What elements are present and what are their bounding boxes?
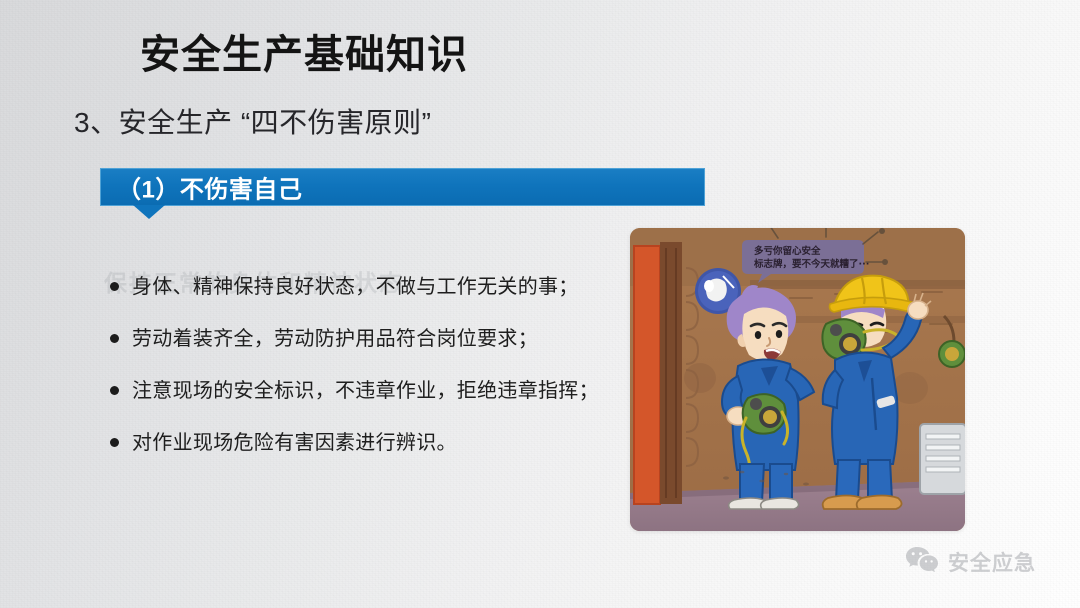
page-title: 安全生产基础知识 bbox=[140, 22, 468, 80]
filled-circle-bullet-icon bbox=[110, 282, 119, 291]
svg-text:标志牌，要不今天就糟了···: 标志牌，要不今天就糟了··· bbox=[753, 258, 869, 270]
list-item-label: 身体、精神保持良好状态，不做与工作无关的事； bbox=[132, 272, 579, 302]
bullet-list: 身体、精神保持良好状态，不做与工作无关的事； 劳动着装齐全，劳动防护用品符合岗位… bbox=[110, 272, 630, 480]
triangle-down-icon bbox=[133, 205, 165, 219]
list-item-label: 对作业现场危险有害因素进行辨识。 bbox=[132, 428, 457, 458]
list-item: 身体、精神保持良好状态，不做与工作无关的事； bbox=[110, 272, 630, 302]
filled-circle-bullet-icon bbox=[110, 386, 119, 395]
list-item-label: 注意现场的安全标识，不违章作业，拒绝违章指挥； bbox=[132, 376, 599, 406]
list-item: 注意现场的安全标识，不违章作业，拒绝违章指挥； bbox=[110, 376, 630, 406]
list-item: 对作业现场危险有害因素进行辨识。 bbox=[110, 428, 630, 458]
illustration-cartoon-workers: 多亏你留心安全 标志牌，要不今天就糟了··· bbox=[630, 228, 965, 531]
filled-circle-bullet-icon bbox=[110, 334, 119, 343]
filled-circle-bullet-icon bbox=[110, 438, 119, 447]
section-banner-label: （1）不伤害自己 bbox=[117, 170, 302, 205]
list-item: 劳动着装齐全，劳动防护用品符合岗位要求； bbox=[110, 324, 630, 354]
wechat-watermark-label: 安全应急 bbox=[948, 547, 1036, 577]
section-heading: 3、安全生产 “四不伤害原则” bbox=[74, 101, 432, 141]
section-banner: （1）不伤害自己 bbox=[100, 168, 705, 206]
slide-canvas: 安全生产基础知识 3、安全生产 “四不伤害原则” （1）不伤害自己 保持正常的身… bbox=[0, 0, 1080, 608]
svg-text:多亏你留心安全: 多亏你留心安全 bbox=[754, 245, 821, 257]
list-item-label: 劳动着装齐全，劳动防护用品符合岗位要求； bbox=[132, 324, 538, 354]
wechat-watermark: 安全应急 bbox=[905, 546, 1036, 577]
wechat-icon bbox=[905, 546, 939, 577]
